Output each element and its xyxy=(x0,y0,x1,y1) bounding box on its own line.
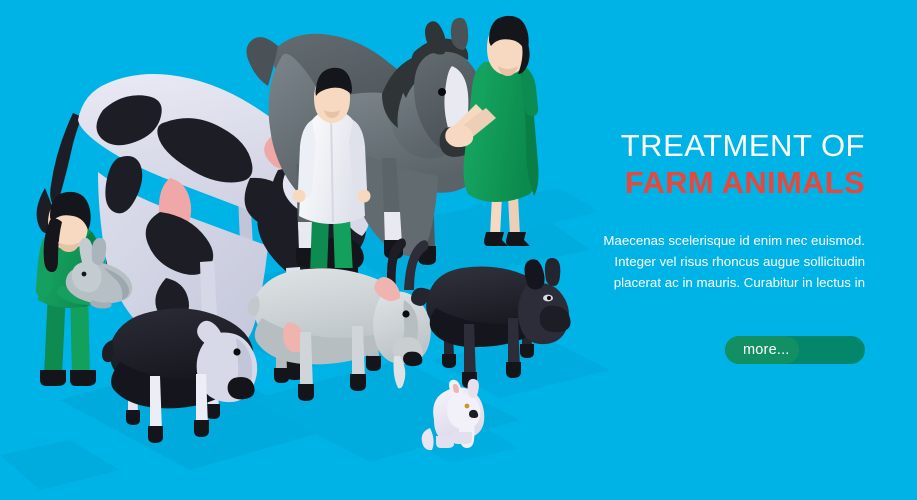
banner-text-block: TREATMENT OF FARM ANIMALS Maecenas scele… xyxy=(565,128,865,293)
treatment-of-farm-animals-banner: TREATMENT OF FARM ANIMALS Maecenas scele… xyxy=(0,0,917,500)
heading-line-1: TREATMENT OF xyxy=(565,128,865,165)
body-paragraph: Maecenas scelerisque id enim nec euismod… xyxy=(565,231,865,293)
more-button[interactable]: more... xyxy=(725,336,865,364)
more-button-label: more... xyxy=(743,336,790,364)
heading-line-2: FARM ANIMALS xyxy=(565,165,865,202)
